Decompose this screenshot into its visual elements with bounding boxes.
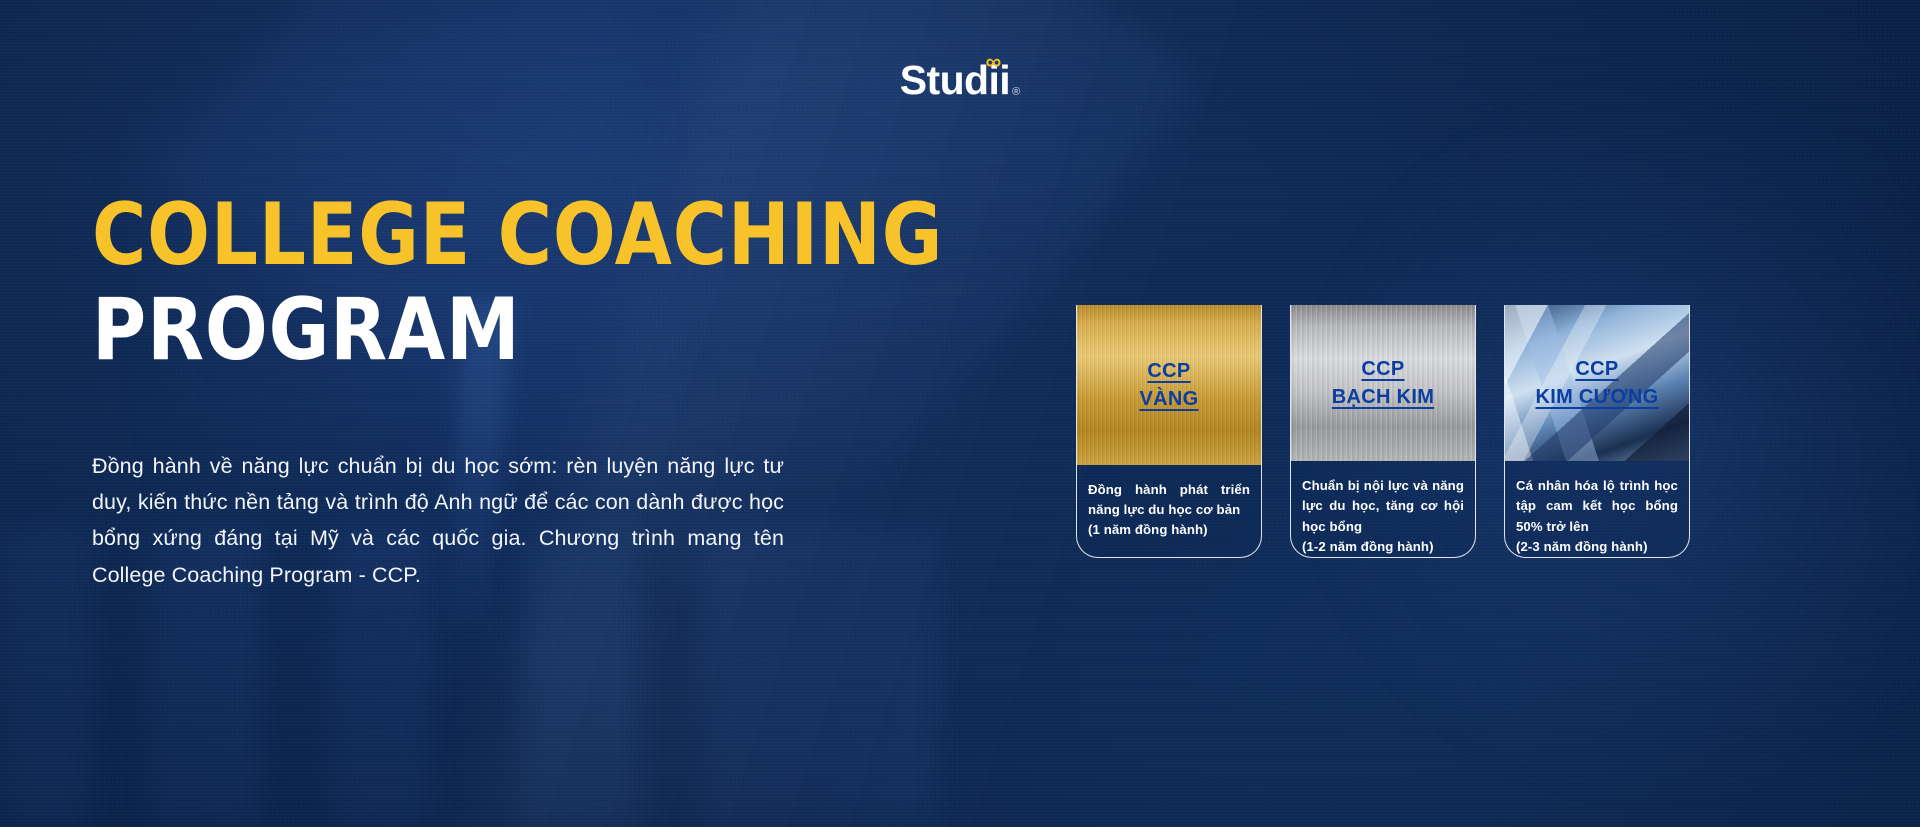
tier-description-platinum: Chuẩn bị nội lực và năng lực du học, tăn… [1302, 476, 1464, 557]
tier-title-diamond-line2: KIM CƯƠNG [1535, 383, 1658, 411]
hero-copy: COLLEGE COACHING PROGRAM Đồng hành về nă… [92, 196, 822, 593]
platinum-texture-media: CCP BẠCH KIM [1291, 305, 1475, 461]
tier-title-platinum-line2: BẠCH KIM [1332, 383, 1434, 411]
tier-card-gold[interactable]: CCP VÀNG Đồng hành phát triển năng lực d… [1076, 305, 1262, 558]
tier-title-platinum: CCP BẠCH KIM [1332, 355, 1434, 412]
tier-card-diamond[interactable]: CCP KIM CƯƠNG Cá nhân hóa lộ trình học t… [1504, 305, 1690, 558]
diamond-texture-media: CCP KIM CƯƠNG [1505, 305, 1689, 461]
tier-title-gold-line2: VÀNG [1140, 385, 1199, 413]
tier-card-platinum-body: Chuẩn bị nội lực và năng lực du học, tăn… [1291, 461, 1475, 557]
tier-description-gold: Đồng hành phát triển năng lực du học cơ … [1088, 480, 1250, 541]
tier-card-diamond-body: Cá nhân hóa lộ trình học tập cam kết học… [1505, 461, 1689, 557]
tier-duration-diamond: (2-3 năm đồng hành) [1516, 537, 1678, 557]
gold-texture-media: CCP VÀNG [1077, 305, 1261, 465]
tier-title-platinum-line1: CCP [1361, 358, 1404, 380]
page-title-line2: PROGRAM [92, 291, 720, 370]
tier-card-list: CCP VÀNG Đồng hành phát triển năng lực d… [1076, 305, 1690, 558]
page-title-line1: COLLEGE COACHING [92, 196, 720, 275]
brand-logo[interactable]: Studii ∞ ® [0, 60, 1920, 120]
tier-duration-platinum: (1-2 năm đồng hành) [1302, 537, 1464, 557]
logo-wrap: Studii ∞ ® [900, 60, 1020, 101]
tier-card-gold-body: Đồng hành phát triển năng lực du học cơ … [1077, 465, 1261, 557]
registered-trademark-icon: ® [1012, 86, 1020, 98]
infinity-icon: ∞ [986, 51, 1001, 73]
promo-banner: Studii ∞ ® COLLEGE COACHING PROGRAM Đồng… [0, 0, 1920, 827]
tier-title-gold-line1: CCP [1147, 360, 1190, 382]
tier-title-diamond-line1: CCP [1575, 358, 1618, 380]
tier-description-diamond-text: Cá nhân hóa lộ trình học tập cam kết học… [1516, 478, 1678, 533]
tier-title-gold: CCP VÀNG [1140, 357, 1199, 414]
tier-description-gold-text: Đồng hành phát triển năng lực du học cơ … [1088, 482, 1250, 517]
tier-description-platinum-text: Chuẩn bị nội lực và năng lực du học, tăn… [1302, 478, 1464, 533]
tier-title-diamond: CCP KIM CƯƠNG [1535, 355, 1658, 412]
hero-paragraph: Đồng hành về năng lực chuẩn bị du học sớ… [92, 448, 784, 592]
tier-card-platinum[interactable]: CCP BẠCH KIM Chuẩn bị nội lực và năng lự… [1290, 305, 1476, 558]
tier-description-diamond: Cá nhân hóa lộ trình học tập cam kết học… [1516, 476, 1678, 557]
tier-duration-gold: (1 năm đồng hành) [1088, 520, 1250, 540]
